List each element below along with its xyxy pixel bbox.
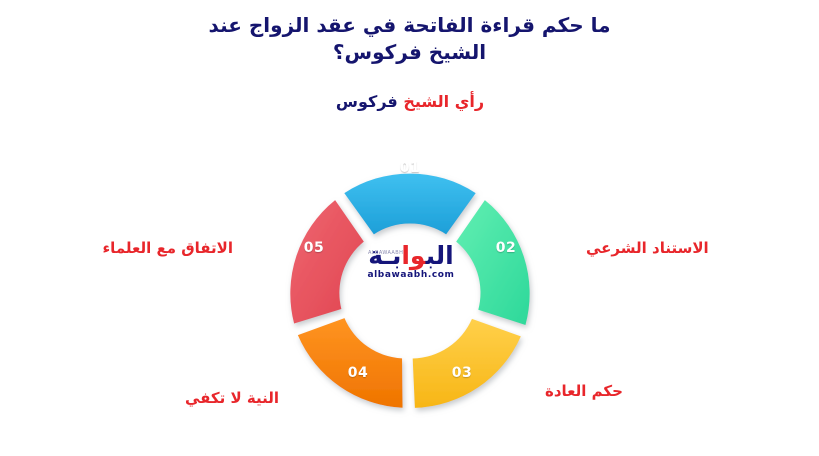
segment-number-02: 02 xyxy=(496,240,516,256)
donut-chart: 01 02 03 04 05 xyxy=(250,128,570,448)
segment-number-05: 05 xyxy=(304,240,324,256)
site-logo: ALBAWAABH البوابـة albawaabh.com xyxy=(358,243,464,280)
segment-label-03: حكم العادة xyxy=(545,382,623,400)
logo-domain: albawaabh.com xyxy=(358,270,464,280)
donut-segment-05[interactable] xyxy=(290,200,363,323)
segment-number-03: 03 xyxy=(452,365,472,381)
logo-word: البوابـة xyxy=(358,243,464,269)
segment-number-04: 04 xyxy=(348,365,368,381)
logo-tiny-text: ALBAWAABH xyxy=(368,250,403,256)
segment-label-02: الاستناد الشرعي xyxy=(586,239,709,257)
segment-label-04: النية لا تكفي xyxy=(185,389,279,407)
page-title-line-2: الشيخ فركوس؟ xyxy=(0,39,819,66)
segment-number-01: 01 xyxy=(400,160,420,176)
segment-label-01: رأي الشيخ فركوس xyxy=(336,92,484,111)
donut-segment-02[interactable] xyxy=(456,200,529,325)
logo-word-mid: وا xyxy=(401,241,425,270)
donut-segment-01[interactable] xyxy=(344,174,475,235)
segment-label-05: الاتفاق مع العلماء xyxy=(103,239,233,257)
segment-label-01-red: رأي الشيخ xyxy=(403,92,484,111)
donut-segment-04[interactable] xyxy=(298,318,403,408)
segment-label-01-blue: فركوس xyxy=(336,92,398,111)
page-title-line-1: ما حكم قراءة الفاتحة في عقد الزواج عند xyxy=(209,13,611,37)
donut-svg xyxy=(250,128,570,448)
donut-segment-03[interactable] xyxy=(413,319,521,408)
logo-word-start: الب xyxy=(426,241,454,270)
page-title: ما حكم قراءة الفاتحة في عقد الزواج عند ا… xyxy=(0,12,819,66)
